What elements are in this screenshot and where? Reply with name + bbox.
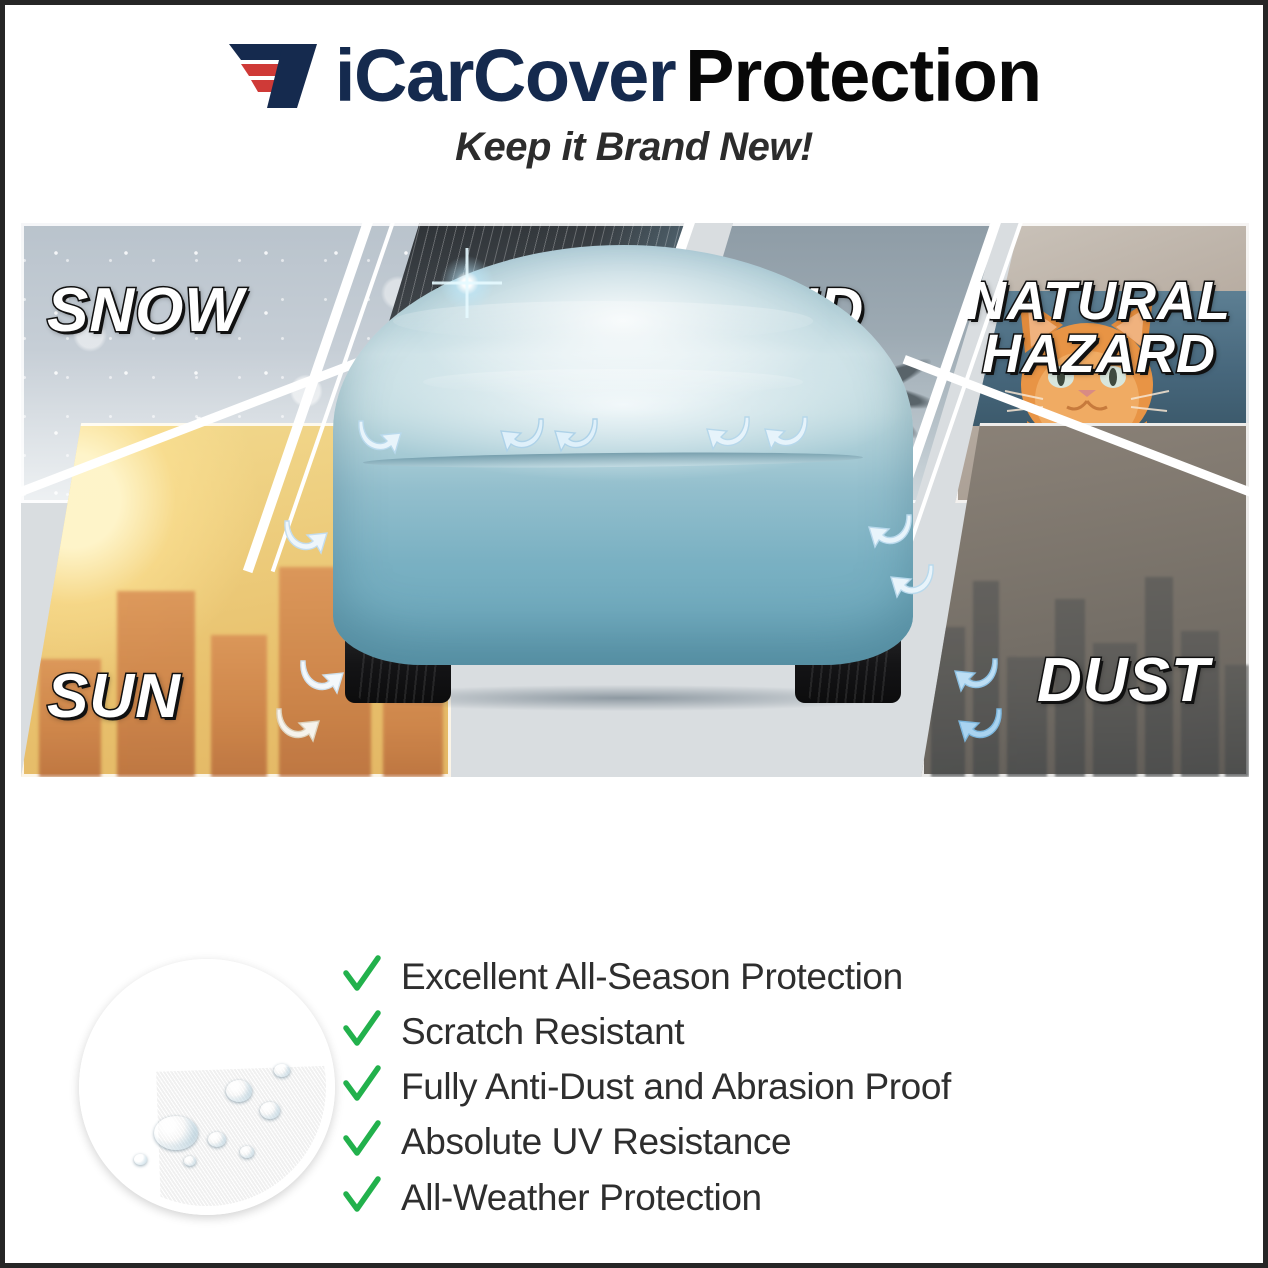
list-item: Excellent All-Season Protection xyxy=(343,949,1163,999)
curved-arrow-icon xyxy=(499,415,545,455)
list-item: Scratch Resistant xyxy=(343,1004,1163,1054)
feature-label: Fully Anti-Dust and Abrasion Proof xyxy=(401,1064,951,1109)
header: iCarCover Protection Keep it Brand New! xyxy=(5,5,1263,170)
water-droplet xyxy=(226,1080,252,1102)
water-droplet xyxy=(260,1102,280,1119)
curved-arrow-icon xyxy=(705,413,751,453)
tagline: Keep it Brand New! xyxy=(5,125,1263,170)
water-droplet xyxy=(240,1146,254,1158)
water-droplet xyxy=(154,1116,198,1150)
curved-arrow-icon xyxy=(357,417,403,457)
panel-label-snow: SNOW xyxy=(47,281,244,342)
check-icon xyxy=(343,1010,381,1050)
check-icon xyxy=(343,1065,381,1105)
feature-label: All-Weather Protection xyxy=(401,1175,762,1220)
list-item: All-Weather Protection xyxy=(343,1170,1163,1220)
panel-label-sun: SUN xyxy=(47,667,181,728)
curved-arrow-icon xyxy=(953,655,999,695)
curved-arrow-icon xyxy=(889,561,935,601)
feature-label: Excellent All-Season Protection xyxy=(401,954,903,999)
water-beading-fabric-closeup xyxy=(79,959,335,1215)
covered-car-image xyxy=(323,215,923,715)
curved-arrow-icon xyxy=(867,511,913,551)
curved-arrow-icon xyxy=(553,415,599,455)
water-droplet xyxy=(274,1064,290,1077)
check-icon xyxy=(343,1120,381,1160)
brand-name: iCarCover xyxy=(335,39,675,113)
sparkle-icon xyxy=(435,251,499,315)
check-icon xyxy=(343,955,381,995)
brand-suffix: Protection xyxy=(685,39,1041,113)
water-droplet xyxy=(184,1156,196,1166)
feature-list: Excellent All-Season Protection Scratch … xyxy=(343,949,1163,1225)
curved-arrow-icon xyxy=(283,517,329,557)
water-droplet xyxy=(134,1154,147,1165)
feature-label: Absolute UV Resistance xyxy=(401,1119,791,1164)
curved-arrow-icon xyxy=(275,705,321,745)
product-infographic: iCarCover Protection Keep it Brand New! … xyxy=(5,5,1263,1263)
curved-arrow-icon xyxy=(957,705,1003,745)
panel-label-dust: DUST xyxy=(1037,651,1210,712)
title-row: iCarCover Protection xyxy=(5,33,1263,119)
water-droplet xyxy=(208,1132,226,1147)
curved-arrow-icon xyxy=(299,657,345,697)
flag-wing-icon xyxy=(227,40,325,112)
feature-label: Scratch Resistant xyxy=(401,1009,684,1054)
curved-arrow-icon xyxy=(763,413,809,453)
list-item: Absolute UV Resistance xyxy=(343,1114,1163,1164)
list-item: Fully Anti-Dust and Abrasion Proof xyxy=(343,1059,1163,1109)
check-icon xyxy=(343,1176,381,1216)
